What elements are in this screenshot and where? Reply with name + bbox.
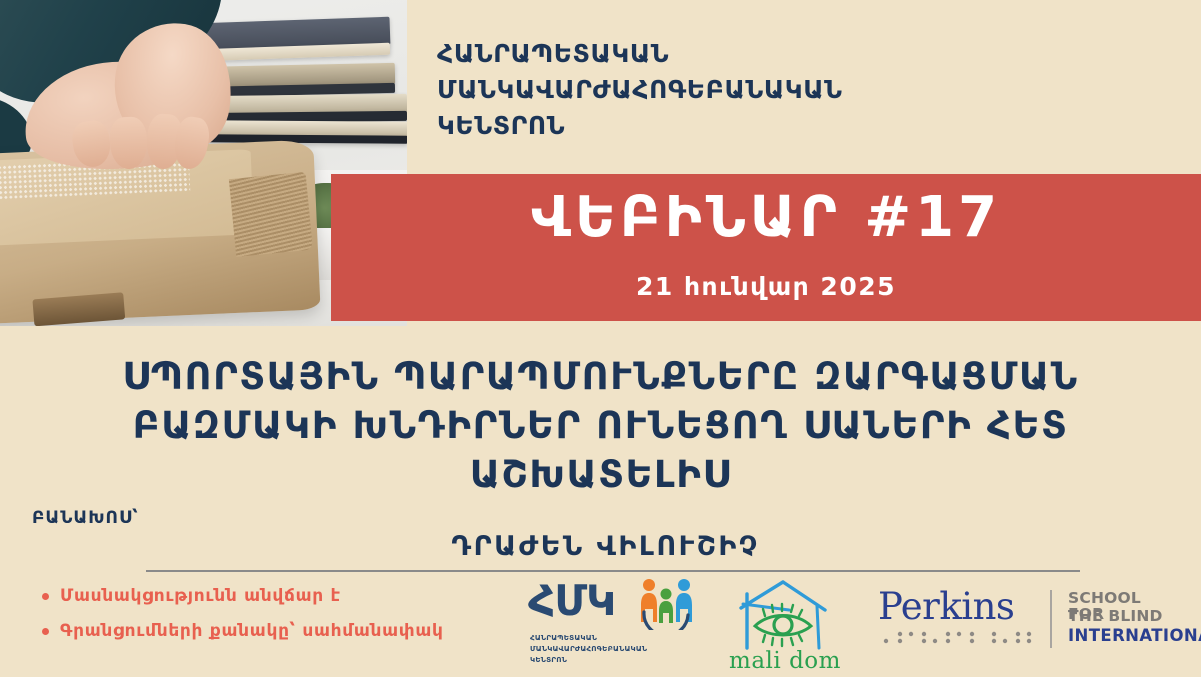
perkins-tagline-line-3: INTERNATIONAL xyxy=(1068,628,1201,645)
perkins-tagline-line-2: THE BLIND xyxy=(1068,609,1163,625)
list-item: Գրանցումների քանակը՝ սահմանափակ xyxy=(36,623,444,640)
hmk-people-icon xyxy=(636,578,696,630)
topic-title-line-1: ՍՊՈՐՏԱՅԻՆ ՊԱՐԱՊՄՈՒՆՔՆԵՐԸ ԶԱՐԳԱՑՄԱՆ xyxy=(30,352,1171,401)
webinar-topic-title: ՍՊՈՐՏԱՅԻՆ ՊԱՐԱՊՄՈՒՆՔՆԵՐԸ ԶԱՐԳԱՑՄԱՆ ԲԱԶՄԱ… xyxy=(30,352,1171,500)
photo-book-page-edges xyxy=(229,171,313,256)
list-item: Մասնակցությունն անվճար է xyxy=(36,588,444,605)
hmk-sub-line-3: ԿԵՆՏՐՈՆ xyxy=(530,654,702,665)
webinar-number-title: ՎԵԲԻՆԱՐ #17 xyxy=(331,190,1201,246)
webinar-banner: ՎԵԲԻՆԱՐ #17 21 հունվար 2025 xyxy=(331,174,1201,321)
organization-name: ՀԱՆՐԱՊԵՏԱԿԱՆ ՄԱՆԿԱՎԱՐԺԱՀՈԳԵԲԱՆԱԿԱՆ ԿԵՆՏՐ… xyxy=(437,36,957,144)
webinar-poster: ՀԱՆՐԱՊԵՏԱԿԱՆ ՄԱՆԿԱՎԱՐԺԱՀՈԳԵԲԱՆԱԿԱՆ ԿԵՆՏՐ… xyxy=(0,0,1201,677)
org-name-line-3: ԿԵՆՏՐՈՆ xyxy=(437,108,957,144)
hmk-sub-line-1: ՀԱՆՐԱՊԵՏԱԿԱՆ xyxy=(530,632,702,643)
hmk-logo: ՀՄԿ ՀԱՆՐԱՊԵՏԱԿԱՆ ՄԱՆԿԱՎԱ xyxy=(528,580,704,676)
org-name-line-2: ՄԱՆԿԱՎԱՐԺԱՀՈԳԵԲԱՆԱԿԱՆ xyxy=(437,72,957,108)
topic-title-line-2: ԲԱԶՄԱԿԻ ԽՆԴԻՐՆԵՐ ՈՒՆԵՑՈՂ ՍԱՆԵՐԻ ՀԵՏ xyxy=(30,401,1171,450)
notes-list: Մասնակցությունն անվճար է Գրանցումների քա… xyxy=(36,588,444,658)
horizontal-divider xyxy=(146,570,1080,572)
hmk-sub-wordmark: ՀԱՆՐԱՊԵՏԱԿԱՆ ՄԱՆԿԱՎԱՐԺԱՀՈԳԵԲԱՆԱԿԱՆ ԿԵՆՏՐ… xyxy=(530,632,702,665)
mali-dom-wordmark: mali dom xyxy=(725,648,845,674)
org-name-line-1: ՀԱՆՐԱՊԵՏԱԿԱՆ xyxy=(437,36,957,72)
speaker-label: ԲԱՆԱԽՈՍ՝ xyxy=(32,508,139,528)
perkins-divider xyxy=(1050,590,1052,648)
topic-title-line-3: ԱՇԽԱՏԵԼԻՍ xyxy=(30,450,1171,499)
partner-logos: ՀՄԿ ՀԱՆՐԱՊԵՏԱԿԱՆ ՄԱՆԿԱՎԱ xyxy=(520,576,1180,676)
mali-dom-house-eye-icon xyxy=(725,576,845,652)
mali-dom-logo: mali dom xyxy=(725,576,845,676)
perkins-logo: Perkins xyxy=(878,588,1178,658)
perkins-braille-dots-icon xyxy=(880,630,1040,646)
speaker-name: ԴՐԱԺԵՆ ՎԻԼՈՒՇԻՉ xyxy=(0,531,1201,562)
hmk-sub-line-2: ՄԱՆԿԱՎԱՐԺԱՀՈԳԵԲԱՆԱԿԱՆ xyxy=(530,643,702,654)
perkins-wordmark: Perkins xyxy=(878,588,1014,625)
hmk-wordmark: ՀՄԿ xyxy=(528,580,615,622)
webinar-date: 21 հունվար 2025 xyxy=(331,272,1201,301)
